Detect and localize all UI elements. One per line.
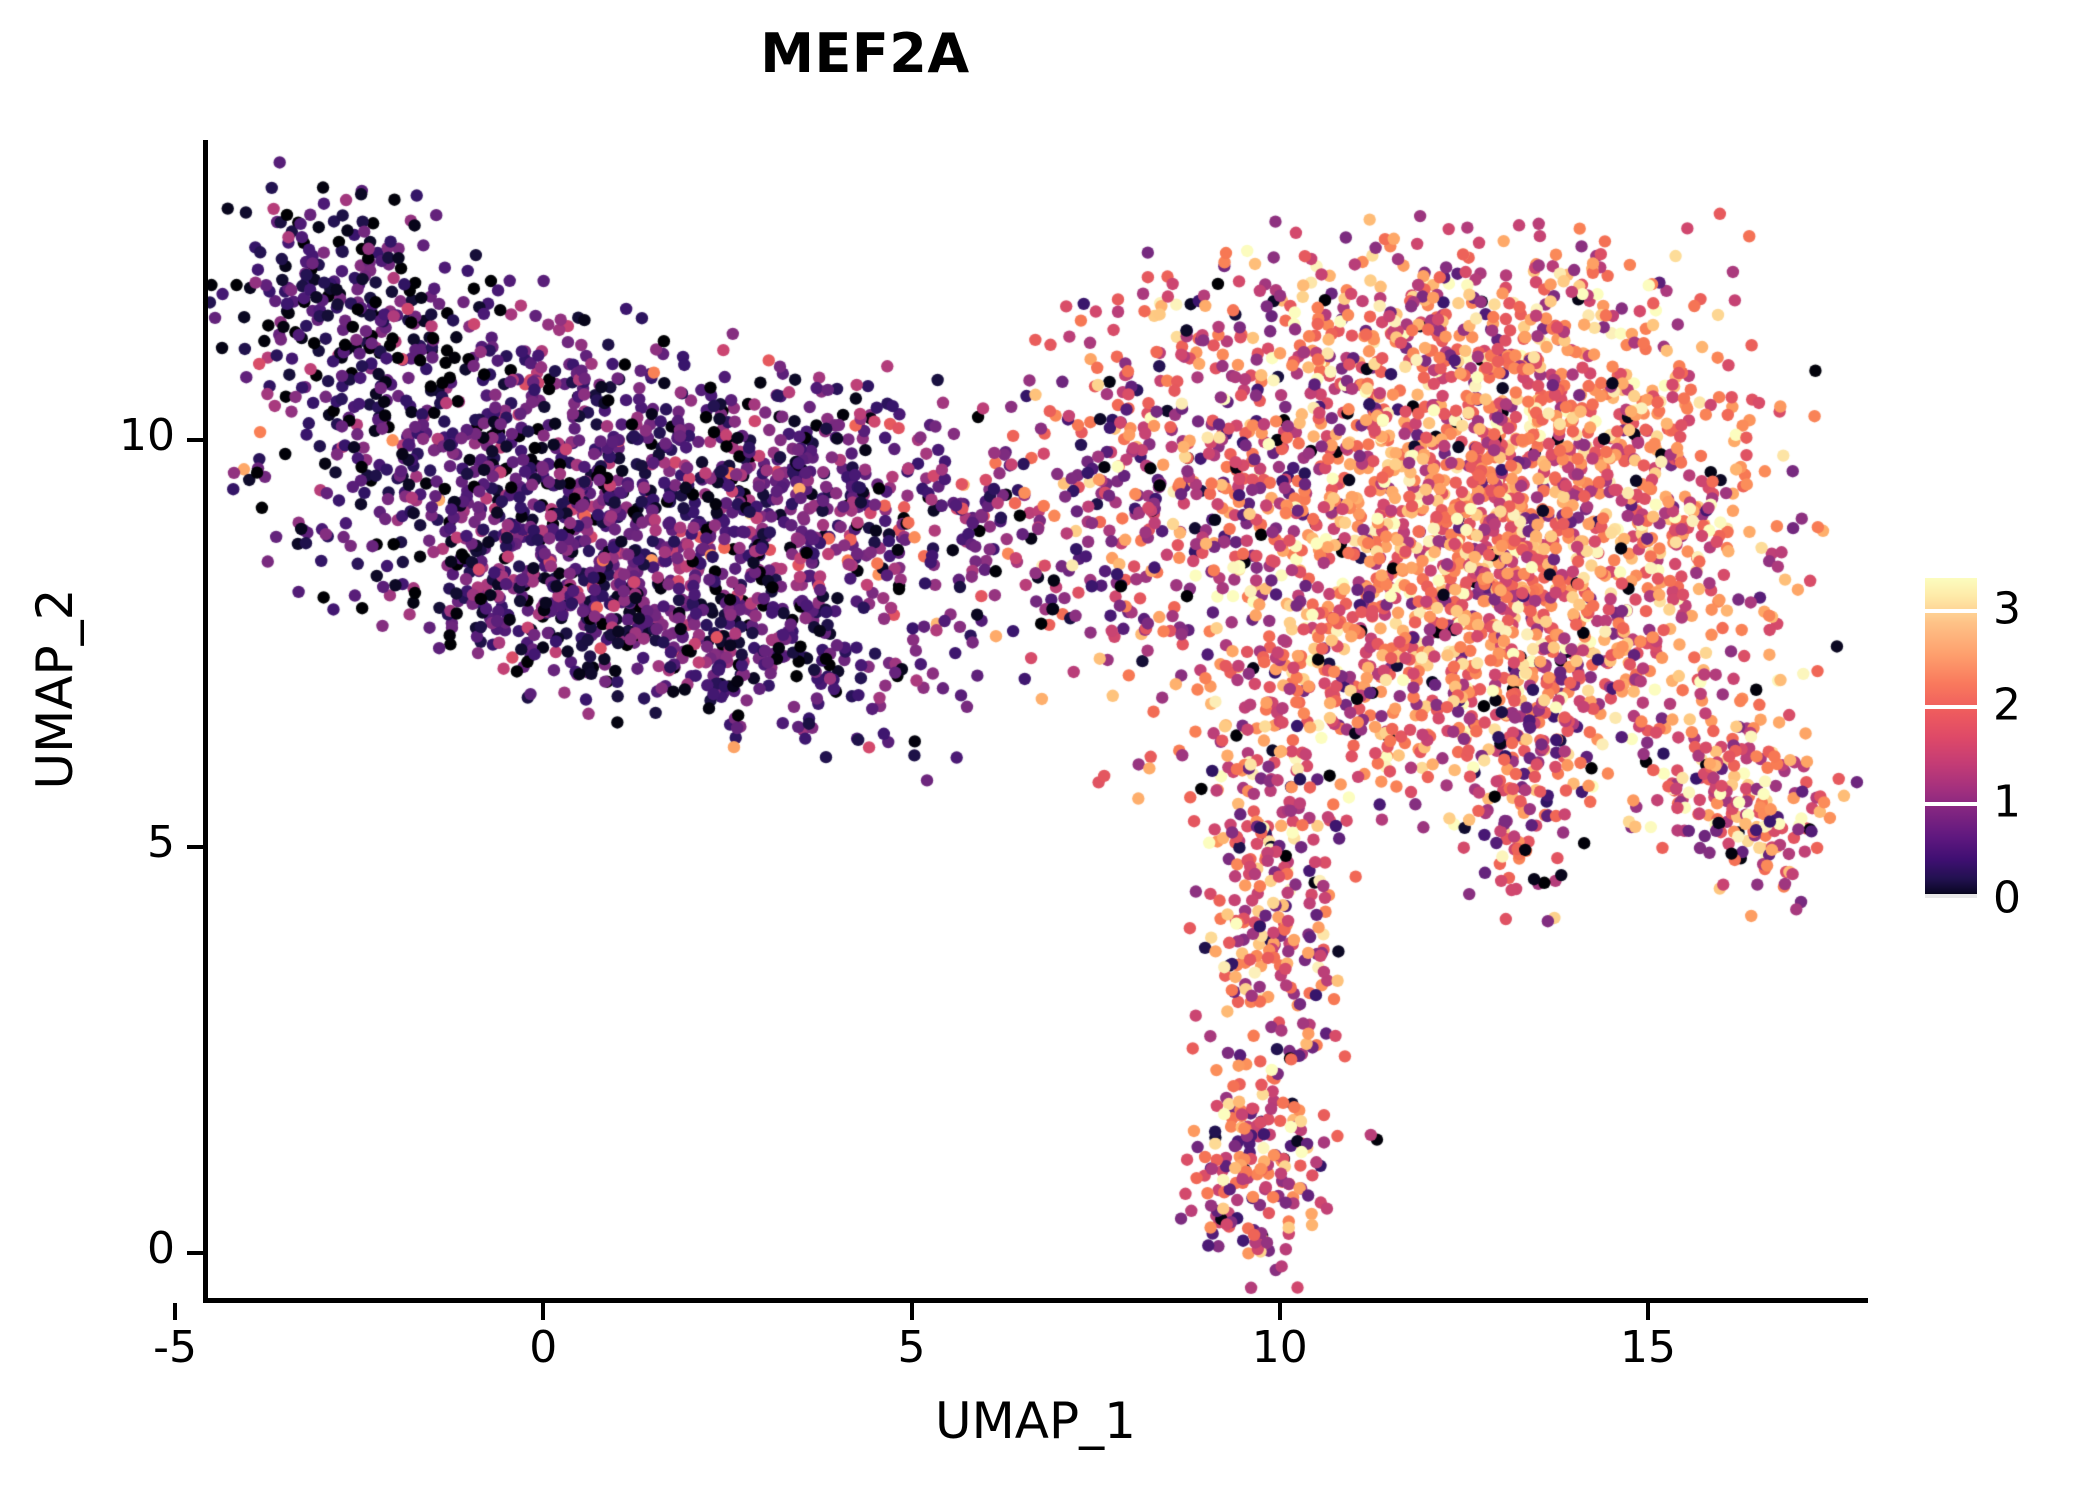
x-axis-label: UMAP_1 [203, 1392, 1868, 1450]
x-tick-label--5: -5 [95, 1322, 255, 1373]
colorbar-label-2: 2 [1993, 680, 2021, 731]
x-tick--5 [173, 1303, 177, 1320]
y-tick-10 [187, 438, 203, 442]
x-tick-10 [1278, 1303, 1282, 1320]
colorbar-label-0: 0 [1993, 873, 2021, 924]
y-axis-spine [203, 140, 208, 1302]
y-tick-5 [187, 845, 203, 849]
x-tick-5 [910, 1303, 914, 1320]
x-tick-label-5: 5 [832, 1322, 992, 1373]
y-axis-label: UMAP_2 [26, 429, 84, 949]
x-tick-label-10: 10 [1200, 1322, 1360, 1373]
colorbar-tick-1 [1925, 802, 1977, 806]
colorbar-label-1: 1 [1993, 776, 2021, 827]
figure-root: MEF2A 0510 -5051015 UMAP_1 UMAP_2 0123 [0, 0, 2100, 1500]
y-tick-label-0: 0 [60, 1223, 175, 1274]
colorbar: 0123 [1925, 578, 2075, 898]
x-axis-spine [203, 1298, 1868, 1303]
colorbar-tick-2 [1925, 705, 1977, 709]
scatter-plot-canvas [0, 0, 2100, 1500]
x-tick-label-0: 0 [463, 1322, 623, 1373]
y-tick-0 [187, 1251, 203, 1255]
x-tick-label-15: 15 [1568, 1322, 1728, 1373]
colorbar-gradient [1925, 578, 1977, 898]
x-tick-0 [541, 1303, 545, 1320]
x-tick-15 [1646, 1303, 1650, 1320]
colorbar-tick-0 [1925, 894, 1977, 898]
colorbar-label-3: 3 [1993, 583, 2021, 634]
colorbar-tick-3 [1925, 609, 1977, 613]
